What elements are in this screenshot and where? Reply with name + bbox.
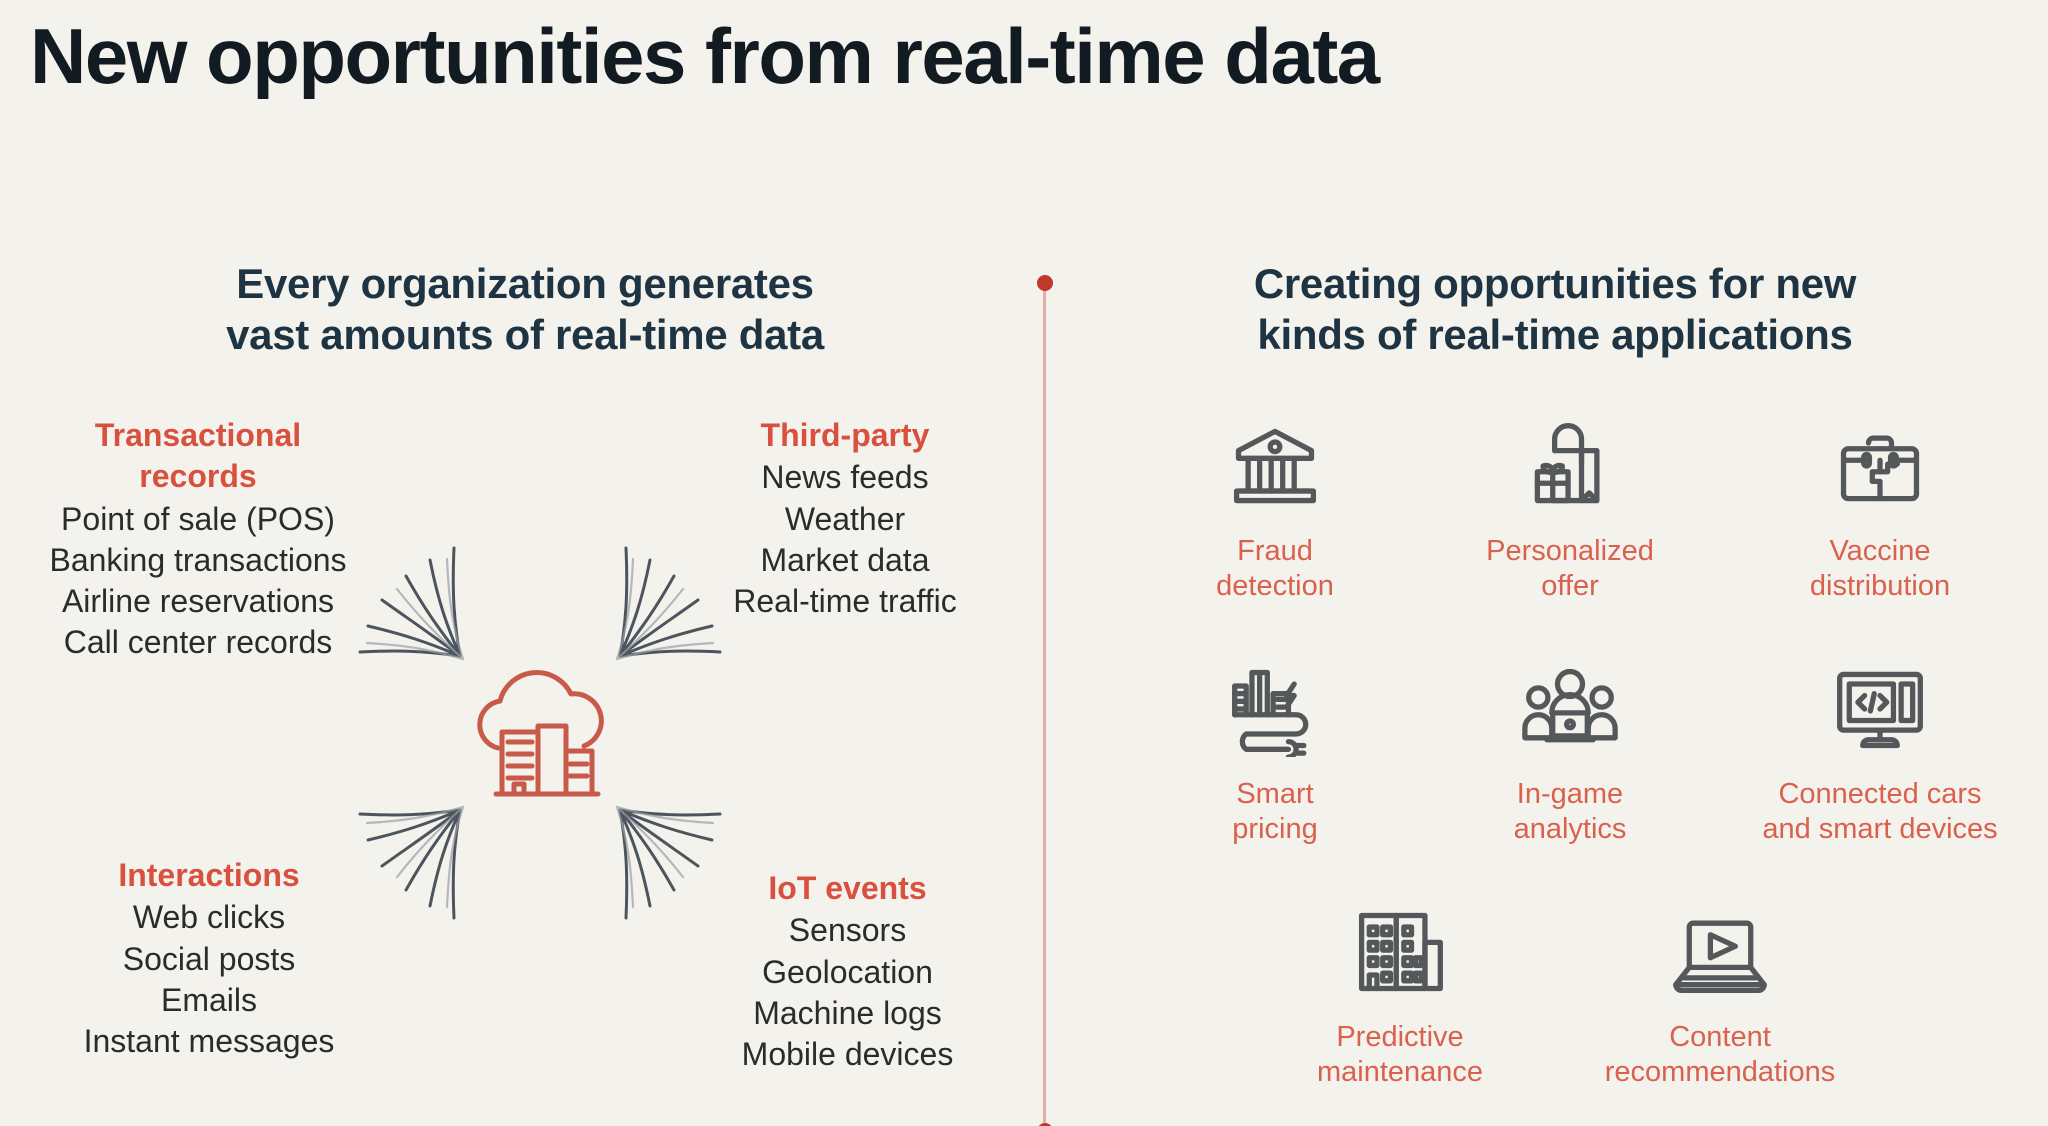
opportunity-personalized-offer[interactable]: Personalized offer [1445, 412, 1695, 604]
left-heading-line-1: Every organization generates [120, 258, 930, 309]
vertical-divider [1043, 283, 1046, 1126]
right-heading-line-2: kinds of real-time applications [1140, 309, 1970, 360]
opportunity-fraud-detection[interactable]: Fraud detection [1150, 412, 1400, 604]
opportunity-label: In-game analytics [1445, 777, 1695, 847]
monitor-code-icon [1755, 655, 2005, 763]
label-line-1: Fraud [1150, 534, 1400, 569]
source-item: Machine logs [700, 993, 995, 1034]
bank-building-icon [1150, 412, 1400, 520]
label-line-2: offer [1445, 569, 1695, 604]
right-heading-line-1: Creating opportunities for new [1140, 258, 1970, 309]
opportunity-smart-pricing[interactable]: Smart pricing [1150, 655, 1400, 847]
page-title: New opportunities from real-time data [30, 16, 1379, 98]
divider-dot-top [1037, 275, 1053, 291]
label-line-1: Connected cars [1755, 777, 2005, 812]
label-line-2: pricing [1150, 812, 1400, 847]
opportunity-label: Personalized offer [1445, 534, 1695, 604]
shopping-bag-gift-icon [1445, 412, 1695, 520]
left-heading-line-2: vast amounts of real-time data [120, 309, 930, 360]
label-line-1: Vaccine [1755, 534, 2005, 569]
office-buildings-icon [1275, 898, 1525, 1006]
label-line-2: analytics [1445, 812, 1695, 847]
opportunity-label: Smart pricing [1150, 777, 1400, 847]
opportunity-connected-cars[interactable]: Connected cars and smart devices [1755, 655, 2005, 847]
label-line-1: Smart [1150, 777, 1400, 812]
opportunity-content-recommendations[interactable]: Content recommendations [1595, 898, 1845, 1090]
label-line-2: detection [1150, 569, 1400, 604]
label-line-2: distribution [1755, 569, 2005, 604]
label-line-1: Predictive [1275, 1020, 1525, 1055]
label-line-1: Content [1595, 1020, 1845, 1055]
opportunity-label: Predictive maintenance [1275, 1020, 1525, 1090]
people-laptop-icon [1445, 655, 1695, 763]
opportunity-in-game-analytics[interactable]: In-game analytics [1445, 655, 1695, 847]
cloud-buildings-radiating-graphic [280, 480, 800, 990]
left-column-heading: Every organization generates vast amount… [120, 258, 930, 360]
opportunity-label: Connected cars and smart devices [1755, 777, 2005, 847]
opportunity-label: Content recommendations [1595, 1020, 1845, 1090]
label-line-2: maintenance [1275, 1055, 1525, 1090]
source-item: Mobile devices [700, 1034, 995, 1075]
source-title: Third-party [690, 415, 1000, 456]
city-power-plug-icon [1150, 655, 1400, 763]
opportunity-label: Fraud detection [1150, 534, 1400, 604]
opportunity-vaccine-distribution[interactable]: Vaccine distribution [1755, 412, 2005, 604]
laptop-play-icon [1595, 898, 1845, 1006]
opportunity-label: Vaccine distribution [1755, 534, 2005, 604]
source-item: Instant messages [60, 1021, 358, 1062]
label-line-2: and smart devices [1755, 812, 2005, 847]
opportunity-predictive-maintenance[interactable]: Predictive maintenance [1275, 898, 1525, 1090]
right-column-heading: Creating opportunities for new kinds of … [1140, 258, 1970, 360]
label-line-1: In-game [1445, 777, 1695, 812]
label-line-2: recommendations [1595, 1055, 1845, 1090]
medical-briefcase-icon [1755, 412, 2005, 520]
label-line-1: Personalized [1445, 534, 1695, 569]
